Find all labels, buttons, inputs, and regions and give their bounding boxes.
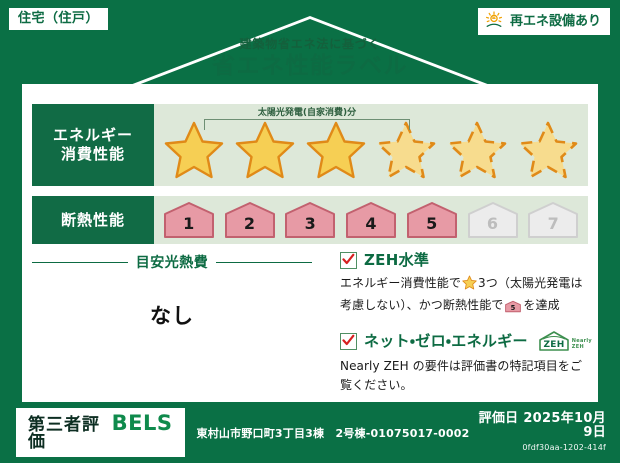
insulation-chip: 7	[527, 201, 579, 239]
zeh-criteria-block: ZEH水準 エネルギー消費性能で3つ（太陽光発電は考慮しない）、かつ断熱性能で5…	[340, 252, 592, 406]
solar-contribution-bracket: 太陽光発電(自家消費)分	[202, 109, 412, 131]
renewable-equipment-label: 再エネ設備あり	[510, 15, 601, 28]
rule-right	[216, 262, 312, 263]
energy-label-card: 住宅（住戸） 再エネ設備あり 建築物省エネ法に基づく 省	[0, 0, 620, 463]
insulation-performance-label: 断熱性能	[32, 196, 154, 244]
rule-left	[32, 262, 128, 263]
checkbox-checked-icon[interactable]	[340, 333, 357, 350]
net-zero-energy-description: Nearly ZEH の要件は評価書の特記項目をご覧ください。	[340, 357, 592, 394]
insulation-chip: 5	[406, 201, 458, 239]
housing-type-tag: 住宅（住戸）	[8, 7, 109, 31]
zeh-standard-title: ZEH水準	[364, 253, 429, 268]
footer-bar: 第三者評価 BELS 東村山市野口町3丁目3棟 2号棟-01075017-000…	[0, 402, 620, 463]
insulation-chip: 2	[224, 201, 276, 239]
insulation-chip: 1	[163, 201, 215, 239]
zeh-standard-description: エネルギー消費性能で3つ（太陽光発電は考慮しない）、かつ断熱性能で5を達成	[340, 274, 592, 318]
net-zero-energy-title: ネット・ゼロ・エネルギー	[364, 334, 528, 349]
svg-text:5: 5	[511, 304, 516, 312]
solar-bracket-line	[204, 119, 410, 130]
insulation-level-scale: 1 2 3 4	[154, 196, 588, 244]
insulation-chip: 3	[284, 201, 336, 239]
insulation-chip: 4	[345, 201, 397, 239]
checkbox-checked-icon[interactable]	[340, 252, 357, 269]
star-solar	[446, 120, 508, 184]
title-subtitle: 建築物省エネ法に基づく	[0, 38, 620, 51]
zeh-standard-title-row: ZEH水準	[340, 252, 592, 269]
property-address: 東村山市野口町3丁目3棟 2号棟-01075017-0002	[197, 425, 470, 441]
solar-bracket-label: 太陽光発電(自家消費)分	[202, 109, 412, 118]
zeh-house-logo: ZEH Nearly ZEH	[537, 330, 592, 352]
insulation-performance-row: 断熱性能 1 2 3	[32, 196, 588, 244]
utility-cost-label: 目安光熱費	[136, 252, 209, 272]
zeh-desc-part-3: を達成	[523, 298, 559, 312]
bels-certification-mark: 第三者評価 BELS	[16, 408, 185, 457]
zeh-logo-subtext: Nearly ZEH	[572, 339, 592, 352]
evaluation-date: 評価日 2025年10月9日	[469, 412, 606, 441]
renewable-equipment-tag: 再エネ設備あり	[477, 7, 611, 36]
evaluation-info: 評価日 2025年10月9日 0fdf30aa-1202-414f	[469, 412, 606, 453]
inline-star-icon	[462, 279, 477, 293]
energy-performance-row: エネルギー 消費性能 太陽光発電(自家消費)分	[32, 104, 588, 186]
inline-insulation-chip-icon: 5	[505, 302, 521, 316]
title-main: 省エネ性能ラベル	[0, 52, 620, 81]
document-id: 0fdf30aa-1202-414f	[469, 443, 606, 453]
zeh-desc-part-1: エネルギー消費性能で	[340, 276, 461, 290]
utility-cost-heading: 目安光熱費	[32, 252, 312, 272]
net-zero-energy-title-row: ネット・ゼロ・エネルギー ZEH Nearly ZEH	[340, 330, 592, 352]
star-solar	[517, 120, 579, 184]
zeh-standard-item: ZEH水準 エネルギー消費性能で3つ（太陽光発電は考慮しない）、かつ断熱性能で5…	[340, 252, 592, 318]
sun-solar-icon	[485, 11, 505, 31]
net-zero-energy-item: ネット・ゼロ・エネルギー ZEH Nearly ZEH Nearly ZEH の…	[340, 330, 592, 394]
third-party-label: 第三者評価	[28, 417, 104, 451]
energy-star-rating: 太陽光発電(自家消費)分	[154, 104, 588, 186]
insulation-chip: 6	[467, 201, 519, 239]
utility-cost-value: なし	[32, 300, 312, 330]
energy-performance-label: エネルギー 消費性能	[32, 104, 154, 186]
svg-text:ZEH: ZEH	[543, 340, 564, 350]
utility-cost-block: 目安光熱費 なし	[32, 252, 312, 330]
bels-logo-text: BELS	[112, 413, 173, 434]
label-title: 建築物省エネ法に基づく 省エネ性能ラベル	[0, 38, 620, 81]
